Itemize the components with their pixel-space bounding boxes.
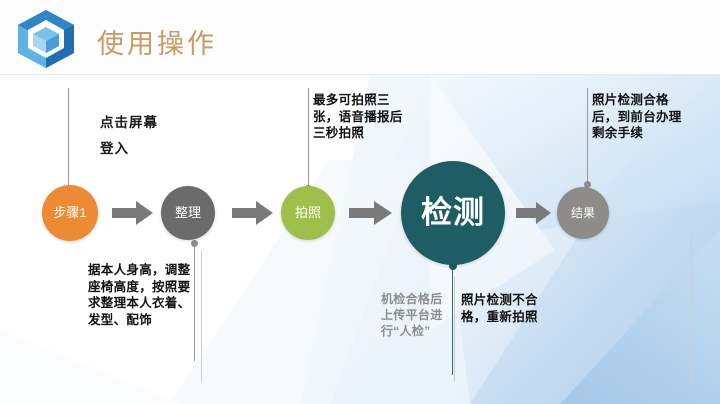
leader-dot-seat — [191, 240, 198, 247]
arrow-check-to-result — [516, 201, 552, 225]
divider-left — [201, 250, 202, 382]
annotation-pass: 照片检测合格后，到前台办理剩余手续 — [592, 92, 688, 142]
arrow-photo-to-check — [349, 200, 393, 226]
leader-line-shots — [308, 88, 309, 188]
slide-canvas: 使用操作 步骤1 整理 拍照 检测 结果 点击屏幕 登入 据本人身高，调整座椅高… — [0, 0, 720, 404]
arrow-step1-to-sort — [112, 200, 154, 226]
flow-node-photo[interactable]: 拍照 — [281, 186, 335, 240]
annotation-seat: 据本人身高，调整座椅高度，按照要求整理本人衣着、发型、配饰 — [88, 262, 196, 328]
arrow-sort-to-photo — [232, 200, 274, 226]
annotation-fail: 照片检测不合格，重新拍照 — [461, 292, 541, 325]
annotation-login: 点击屏幕 登入 — [100, 110, 158, 161]
header-divider — [0, 74, 720, 75]
annotation-shots: 最多可拍照三张，语音播报后三秒拍照 — [313, 92, 405, 142]
flow-node-result[interactable]: 结果 — [557, 187, 609, 239]
leader-line-login — [68, 88, 69, 188]
divider-right — [691, 236, 692, 386]
leader-line-pass — [587, 88, 588, 184]
hexagon-cube-logo — [14, 8, 78, 70]
leader-line-check-down — [452, 265, 453, 375]
flow-node-check[interactable]: 检测 — [401, 161, 505, 265]
flow-node-step1[interactable]: 步骤1 — [42, 185, 98, 241]
flow-node-sort[interactable]: 整理 — [161, 186, 215, 240]
page-title: 使用操作 — [97, 22, 217, 61]
annotation-machine-check: 机检合格后上传平台进行“人检” — [381, 292, 451, 339]
divider-center — [454, 276, 455, 382]
